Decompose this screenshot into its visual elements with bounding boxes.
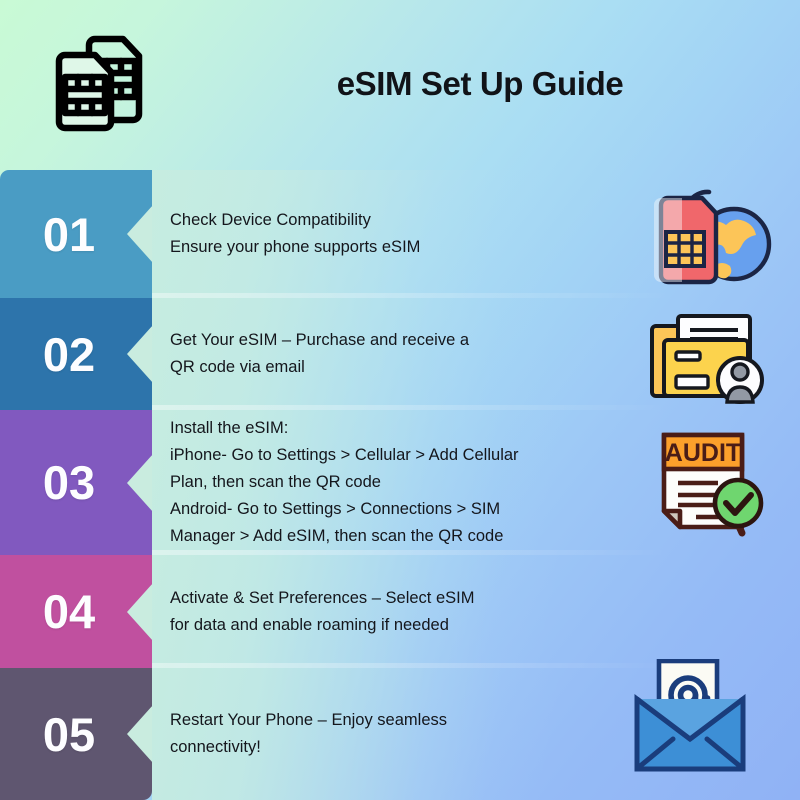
step-number-block-02: 02 [0,298,152,410]
panel-separator [152,293,800,298]
step-line: Get Your eSIM – Purchase and receive a [170,327,622,354]
step-number-block-03: 03 [0,410,152,555]
step-text-lines: Get Your eSIM – Purchase and receive a Q… [162,327,622,381]
step-illustration-02 [622,298,800,410]
step-number-label: 01 [43,211,95,258]
folder-document-user-icon [648,304,774,404]
step-text-panel-03: Install the eSIM: iPhone- Go to Settings… [152,410,622,555]
step-row-03[interactable]: 03 Install the eSIM: iPhone- Go to Setti… [0,410,800,555]
step-row-04[interactable]: 04 Activate & Set Preferences – Select e… [0,555,800,668]
panel-separator [152,550,800,555]
page-title: eSIM Set Up Guide [200,66,800,102]
step-number-label: 05 [43,711,95,758]
step-number-block-04: 04 [0,555,152,668]
arrow-notch-icon [127,454,152,512]
sim-card-globe-icon [644,178,778,290]
step-text-lines: Install the eSIM: iPhone- Go to Settings… [162,415,622,550]
step-number-block-05: 05 [0,668,152,800]
logo-container [0,27,200,142]
panel-separator [152,405,800,410]
step-illustration-03: AUDIT [622,410,800,555]
step-text-lines: Activate & Set Preferences – Select eSIM… [162,585,622,639]
step-number-block-01: 01 [0,170,152,298]
step-text-lines: Check Device Compatibility Ensure your p… [162,207,622,261]
step-line: iPhone- Go to Settings > Cellular > Add … [170,442,622,469]
step-line: Manager > Add eSIM, then scan the QR cod… [170,523,622,550]
step-line: QR code via email [170,354,622,381]
step-number-label: 03 [43,459,95,506]
step-text-panel-02: Get Your eSIM – Purchase and receive a Q… [152,298,622,410]
step-text-lines: Restart Your Phone – Enjoy seamless conn… [162,707,622,761]
step-number-label: 02 [43,331,95,378]
step-illustration-01 [622,170,800,298]
step-line: Activate & Set Preferences – Select eSIM [170,585,622,612]
email-envelope-at-icon-container [629,660,751,780]
audit-document-check-icon: AUDIT [650,427,772,539]
step-line: Android- Go to Settings > Connections > … [170,496,622,523]
header: eSIM Set Up Guide [0,0,800,168]
step-line: connectivity! [170,734,622,761]
step-text-panel-01: Check Device Compatibility Ensure your p… [152,170,622,298]
audit-label: AUDIT [665,439,741,467]
arrow-notch-icon [127,583,152,641]
arrow-notch-icon [127,325,152,383]
arrow-notch-icon [127,705,152,763]
step-line: Install the eSIM: [170,415,622,442]
step-line: Check Device Compatibility [170,207,622,234]
step-row-02[interactable]: 02 Get Your eSIM – Purchase and receive … [0,298,800,410]
step-number-label: 04 [43,588,95,635]
step-row-01[interactable]: 01 Check Device Compatibility Ensure you… [0,170,800,298]
arrow-notch-icon [127,205,152,263]
step-text-panel-04: Activate & Set Preferences – Select eSIM… [152,555,622,668]
dual-sim-cards-icon [43,27,163,142]
step-line: Plan, then scan the QR code [170,469,622,496]
step-line: Restart Your Phone – Enjoy seamless [170,707,622,734]
step-line: Ensure your phone supports eSIM [170,234,622,261]
step-illustration-04 [622,555,800,668]
email-envelope-at-icon [629,659,751,782]
step-line: for data and enable roaming if needed [170,612,622,639]
step-text-panel-05: Restart Your Phone – Enjoy seamless conn… [152,668,622,800]
